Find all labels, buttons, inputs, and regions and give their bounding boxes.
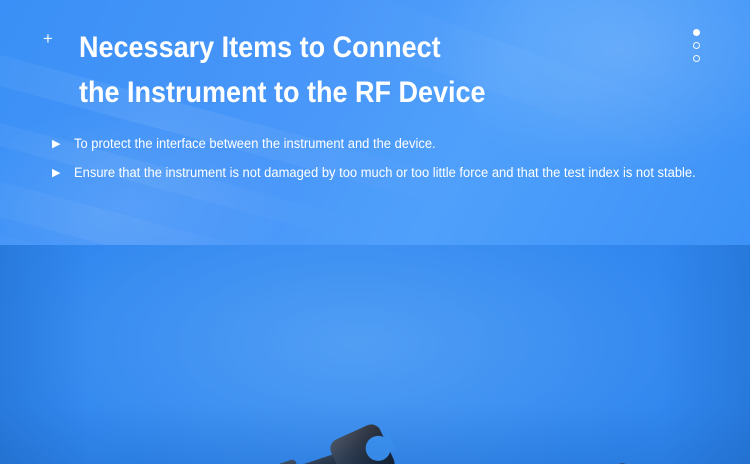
background-streak xyxy=(0,214,329,245)
list-item-label: To protect the interface between the ins… xyxy=(74,131,706,157)
page-title-line-1: Necessary Items to Connect xyxy=(79,25,601,70)
wrench-open-end-head xyxy=(327,421,398,464)
photo-edge-shade-left xyxy=(0,245,90,464)
pagination-dot-3[interactable] xyxy=(693,55,700,62)
page-title: Necessary Items to Connect the Instrumen… xyxy=(79,25,659,115)
product-photo-alt: Two RF torque wrenches with black open-e… xyxy=(0,245,1,246)
slide-header-panel: + Necessary Items to Connect the Instrum… xyxy=(0,0,750,245)
triangle-bullet-icon: ▶ xyxy=(52,131,74,156)
bullet-list: ▶ To protect the interface between the i… xyxy=(52,131,732,189)
pink-wrench-geometry xyxy=(21,421,414,464)
pagination-dot-1-active[interactable] xyxy=(693,29,700,36)
presentation-slide: + Necessary Items to Connect the Instrum… xyxy=(0,0,750,464)
list-item: ▶ To protect the interface between the i… xyxy=(52,131,732,157)
page-title-line-2: the Instrument to the RF Device xyxy=(79,70,601,115)
list-item: ▶ Ensure that the instrument is not dama… xyxy=(52,160,732,186)
wrench-collar xyxy=(270,459,307,464)
plus-icon: + xyxy=(43,30,53,47)
list-item-label: Ensure that the instrument is not damage… xyxy=(74,160,706,186)
product-photo: Two RF torque wrenches with black open-e… xyxy=(0,245,750,464)
triangle-bullet-icon: ▶ xyxy=(52,160,74,185)
photo-edge-shade-right xyxy=(660,245,750,464)
pagination-dot-2[interactable] xyxy=(693,42,700,49)
wrench-open-end-head xyxy=(578,460,649,464)
pagination-dots[interactable] xyxy=(693,29,700,62)
